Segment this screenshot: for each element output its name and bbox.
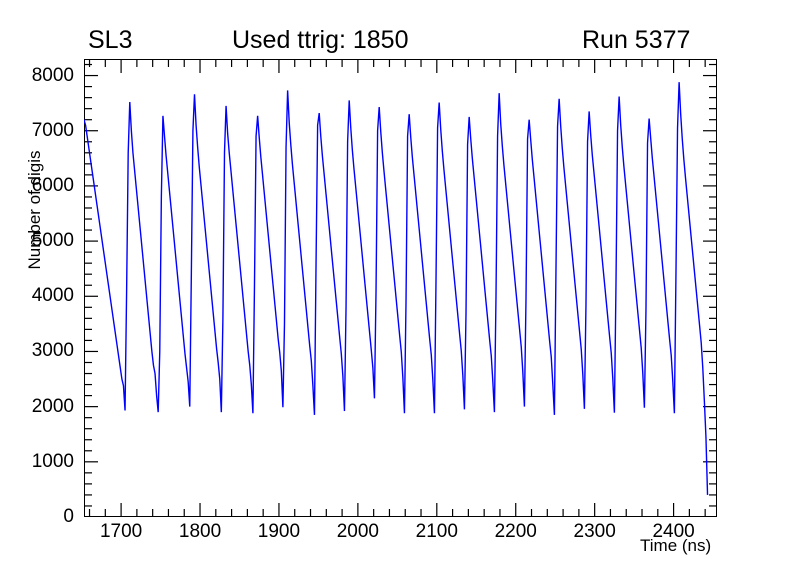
y-tick-label-8: 8000 [0,65,74,87]
x-tick-label-5: 2200 [495,521,537,543]
y-tick-label-6: 6000 [0,175,74,197]
x-tick-label-4: 2100 [416,521,458,543]
run-label: Run 5377 [582,26,690,55]
y-tick-label-7: 7000 [0,120,74,142]
x-tick-label-0: 1700 [100,521,142,543]
x-tick-label-2: 1900 [258,521,300,543]
y-tick-label-2: 2000 [0,396,74,418]
x-tick-label-6: 2300 [574,521,616,543]
digis-waveform [84,82,708,495]
y-tick-label-1: 1000 [0,451,74,473]
x-tick-label-3: 2000 [337,521,379,543]
y-tick-label-0: 0 [0,506,74,528]
y-tick-label-5: 5000 [0,230,74,252]
superlayer-label: SL3 [88,26,132,55]
x-tick-label-7: 2400 [652,521,694,543]
x-tick-label-1: 1800 [179,521,221,543]
chart-root: SL3 Used ttrig: 1850 Run 5377 Number of … [0,0,796,572]
plot-area [84,59,717,517]
y-tick-label-4: 4000 [0,285,74,307]
y-tick-label-3: 3000 [0,340,74,362]
data-series-svg [84,59,717,517]
chart-title: Used ttrig: 1850 [232,26,409,55]
y-axis-title: Number of digis [25,115,45,305]
